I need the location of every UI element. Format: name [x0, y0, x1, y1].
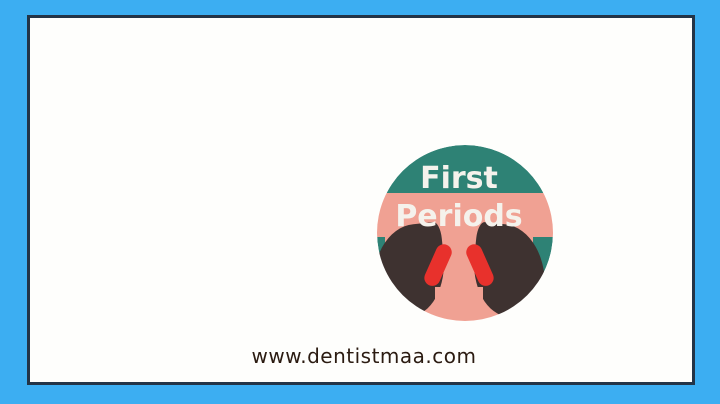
white-content-panel: Signs your daughter is about to get her … — [27, 15, 695, 385]
center-label-periods: Periods — [363, 199, 555, 234]
hand-left — [560, 165, 586, 199]
center-graphic-first-periods: First Periods — [363, 137, 555, 329]
pink-top — [572, 233, 654, 333]
illustration-girl-with-acne — [40, 110, 205, 230]
hair-fringe — [299, 128, 347, 148]
hair-fringe — [96, 242, 168, 268]
hair-fringe — [262, 241, 332, 269]
hair-fringe — [100, 118, 172, 144]
hair-fringe — [562, 117, 662, 155]
hand-mirror-icon — [46, 136, 102, 186]
title-line-2: her first periods — [30, 60, 695, 94]
page-title: Signs your daughter is about to get her … — [30, 26, 695, 94]
center-label-first: First — [363, 161, 555, 196]
hand-right — [640, 165, 666, 199]
thought-bubble-boy — [225, 112, 291, 156]
exclamation-mark-right: ! — [670, 135, 691, 175]
illustration-girl-body-odor — [220, 233, 360, 358]
illustration-girl-mood-swings — [58, 236, 218, 358]
steam-puff-left-2 — [74, 264, 92, 281]
shoe — [239, 202, 263, 216]
ponytail — [150, 282, 176, 328]
pink-top — [110, 196, 166, 230]
website-url[interactable]: www.dentistmaa.com — [30, 344, 695, 368]
illustration-girl-daydreaming — [215, 110, 365, 232]
title-line-1: Signs your daughter is about to get — [87, 26, 640, 59]
infographic-poster: Signs your daughter is about to get her … — [0, 0, 720, 404]
